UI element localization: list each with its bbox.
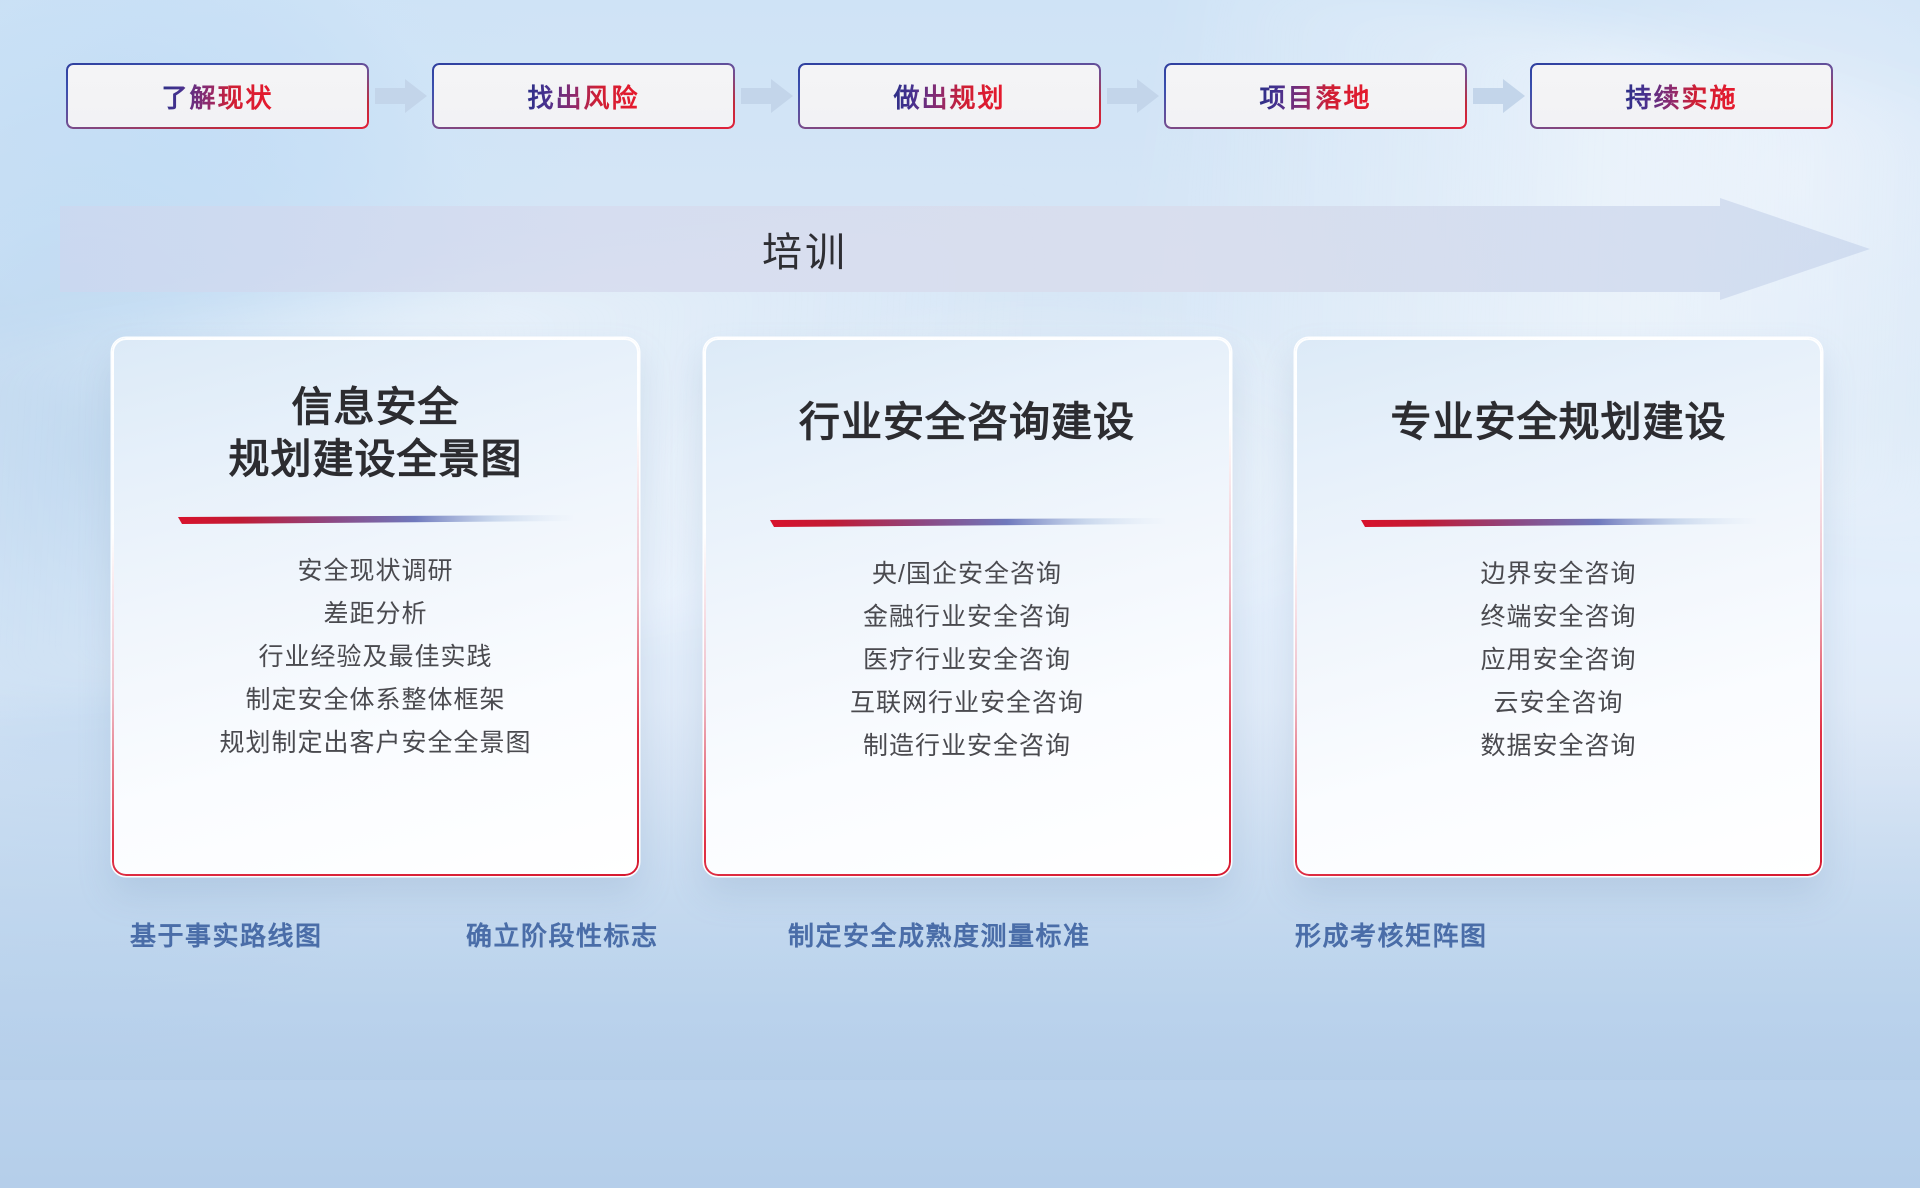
card-group: 信息安全 规划建设全景图 [112,338,1822,878]
card-divider [178,511,573,520]
list-item: 安全现状调研 [297,550,453,593]
card-title: 信息安全 规划建设全景图 [229,382,523,485]
card-info-security-blueprint[interactable]: 信息安全 规划建设全景图 [112,338,639,876]
card-industry-security-consulting[interactable]: 行业安全咨询建设 [704,338,1231,876]
list-item: 央/国企安全咨询 [872,553,1062,596]
card-item-list: 安全现状调研 差距分析 行业经验及最佳实践 制定安全体系整体框架 规划制定出客户… [112,550,639,765]
arrow-right-icon [369,76,432,116]
card-title-line: 行业安全咨询建设 [799,396,1135,448]
list-item: 制定安全体系整体框架 [245,679,505,722]
card-divider [1361,514,1756,523]
step-box-1[interactable]: 了解现状 [66,63,369,129]
step-box-4[interactable]: 项目落地 [1164,63,1467,129]
list-item: 边界安全咨询 [1480,553,1636,596]
step-box-5[interactable]: 持续实施 [1530,63,1833,129]
list-item: 云安全咨询 [1493,682,1623,725]
arrow-right-icon [1101,76,1164,116]
training-banner: 培训 [60,198,1870,300]
list-item: 规划制定出客户安全全景图 [219,722,531,765]
caption-row: 基于事实路线图 确立阶段性标志 制定安全成熟度测量标准 形成考核矩阵图 [0,916,1920,960]
step-box-2[interactable]: 找出风险 [432,63,735,129]
list-item: 行业经验及最佳实践 [258,636,492,679]
step-label-4: 项目落地 [1259,78,1371,115]
card-professional-security-planning[interactable]: 专业安全规划建设 [1295,338,1822,876]
step-label-1: 了解现状 [161,78,273,115]
list-item: 终端安全咨询 [1480,596,1636,639]
list-item: 数据安全咨询 [1480,725,1636,768]
banner-title: 培训 [60,198,1550,300]
list-item: 差距分析 [323,593,427,636]
card-item-list: 边界安全咨询 终端安全咨询 应用安全咨询 云安全咨询 数据安全咨询 [1295,553,1822,768]
caption-matrix: 形成考核矩阵图 [1295,916,1488,953]
process-step-row: 了解现状 找出风险 做出规划 项目落地 持续实施 [66,62,1856,130]
caption-roadmap: 基于事实路线图 [130,916,323,953]
card-title: 行业安全咨询建设 [799,396,1135,448]
list-item: 应用安全咨询 [1480,639,1636,682]
arrow-right-icon [1467,76,1530,116]
list-item: 金融行业安全咨询 [863,596,1071,639]
step-label-2: 找出风险 [527,78,639,115]
caption-milestones: 确立阶段性标志 [466,916,659,953]
step-label-5: 持续实施 [1625,78,1737,115]
card-title-line: 规划建设全景图 [229,434,523,486]
list-item: 制造行业安全咨询 [863,725,1071,768]
list-item: 医疗行业安全咨询 [863,639,1071,682]
step-box-3[interactable]: 做出规划 [798,63,1101,129]
card-title-line: 信息安全 [229,382,523,434]
card-title: 专业安全规划建设 [1391,396,1727,448]
card-item-list: 央/国企安全咨询 金融行业安全咨询 医疗行业安全咨询 互联网行业安全咨询 制造行… [704,553,1231,768]
card-divider [770,514,1165,523]
caption-maturity: 制定安全成熟度测量标准 [788,916,1091,953]
arrow-right-icon [735,76,798,116]
card-title-line: 专业安全规划建设 [1391,396,1727,448]
step-label-3: 做出规划 [893,78,1005,115]
list-item: 互联网行业安全咨询 [850,682,1084,725]
